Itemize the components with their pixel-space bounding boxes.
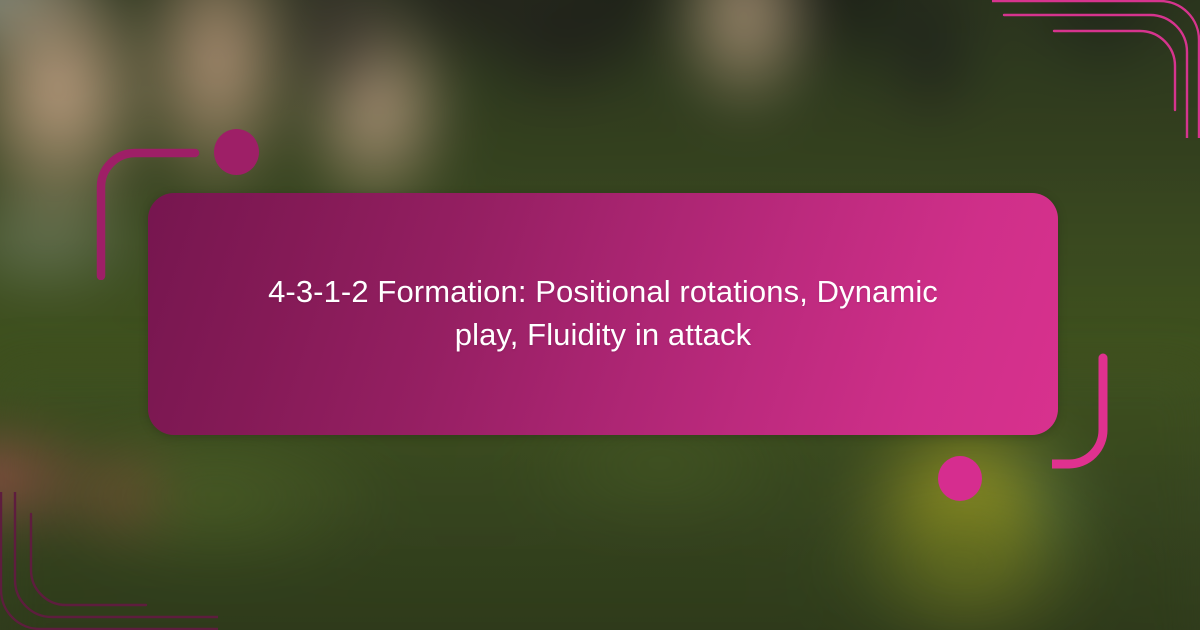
page-title: 4-3-1-2 Formation: Positional rotations,… (253, 271, 953, 357)
decorative-dot-bottom-right-icon (938, 456, 982, 501)
title-card: 4-3-1-2 Formation: Positional rotations,… (148, 193, 1058, 435)
banner-canvas: 4-3-1-2 Formation: Positional rotations,… (0, 0, 1200, 630)
decorative-dot-top-left-icon (214, 129, 259, 175)
